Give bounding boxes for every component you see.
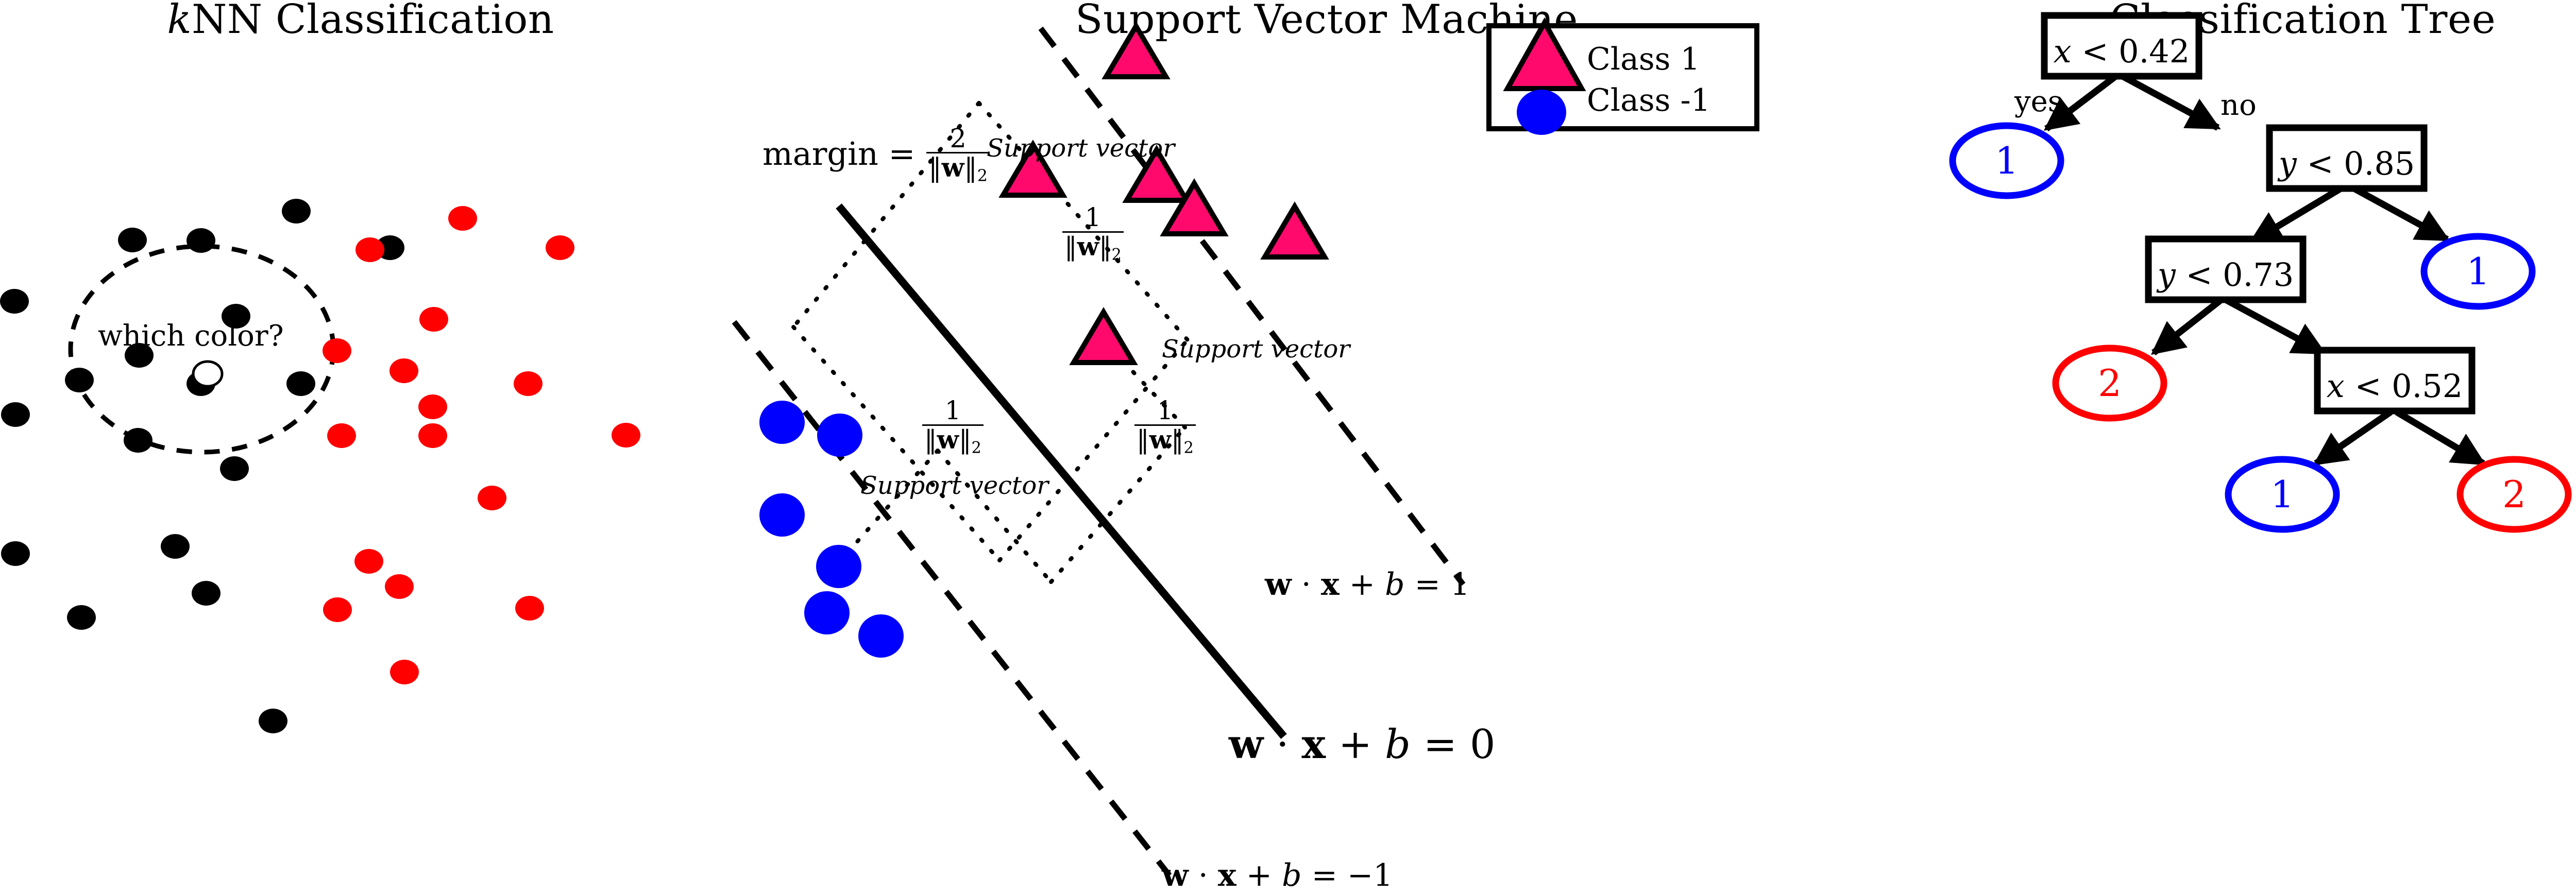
- svm-panel-title: Support Vector Machine: [721, 0, 1932, 43]
- svm-legend-label-class-1: Class 1: [1587, 41, 1700, 77]
- knn-black-dot-7: [65, 368, 94, 392]
- svm-support-vector-triangle-5: [1074, 312, 1133, 363]
- knn-black-dot-14: [161, 534, 190, 559]
- svm-margin-fraction: 2 ‖w‖2: [926, 125, 990, 185]
- tree-node-threshold-n2: 0.85: [2344, 145, 2415, 182]
- tree-edge-n2-n4: [2350, 186, 2447, 239]
- panel-svm: Support Vector Machine: [721, 0, 1932, 894]
- svm-margin-w: w: [942, 152, 964, 183]
- knn-black-dot-3: [187, 228, 215, 253]
- knn-black-dot-9: [286, 371, 315, 396]
- panel-tree: Classification Tree: [1932, 0, 2576, 894]
- knn-scatter-svg: [0, 0, 721, 894]
- knn-red-dot-15: [515, 596, 544, 621]
- tree-diagram-svg: [1932, 0, 2576, 894]
- knn-query-point[interactable]: [193, 362, 222, 386]
- svm-inv2-sub: 2: [972, 439, 981, 457]
- knn-black-dot-1: [118, 228, 147, 252]
- svm-margin-sub: 2: [977, 167, 988, 185]
- svm-class-minus1-circle-0: [759, 401, 805, 444]
- tree-node-label-n2: y < 0.85: [2269, 145, 2424, 182]
- knn-title-text: NN Classification: [192, 0, 554, 43]
- knn-red-dot-11: [478, 486, 506, 510]
- knn-black-dot-13: [1, 541, 30, 566]
- tree-leaf-label-n5: 2: [2056, 362, 2164, 405]
- svm-inv3-fraction: 1 ‖w‖2: [1134, 398, 1196, 457]
- knn-black-dot-16: [67, 605, 96, 630]
- knn-red-dot-5: [389, 358, 418, 383]
- svm-equation-minus-one: w · x + b = −1: [1162, 857, 1393, 893]
- svm-support-vector-label-left: Support vector: [860, 471, 1048, 500]
- knn-red-dot-13: [385, 574, 414, 599]
- svm-class-minus1-circle-2: [759, 493, 805, 537]
- svm-inv1-numerator: 1: [1062, 204, 1124, 231]
- knn-red-dot-14: [323, 597, 352, 622]
- svm-legend-circle-icon: [1517, 90, 1566, 135]
- knn-red-dot-10: [612, 423, 640, 448]
- panel-knn: kNN Classification which color?: [0, 0, 721, 894]
- knn-red-dot-2: [546, 235, 574, 260]
- knn-black-dot-15: [192, 581, 221, 606]
- svm-inv1-sub: 2: [1112, 246, 1122, 264]
- svm-inv2-fraction: 1 ‖w‖2: [922, 398, 984, 457]
- tree-edge-n6-n8: [2397, 412, 2483, 463]
- knn-black-dot-5: [0, 289, 29, 314]
- svm-inverse-norm-label-1: 1 ‖w‖2: [1061, 206, 1125, 265]
- knn-red-dot-7: [418, 394, 447, 419]
- svm-class-minus1-circle-5: [858, 614, 904, 658]
- tree-leaf-label-n8: 2: [2460, 473, 2568, 516]
- tree-edge-n3-n6: [2227, 300, 2324, 353]
- knn-red-dot-0: [448, 206, 477, 231]
- knn-red-dot-group: [323, 206, 640, 684]
- tree-edge-n6-n7: [2316, 412, 2391, 463]
- tree-node-label-n3: y < 0.73: [2148, 256, 2303, 294]
- svm-class-minus1-circle-4: [804, 591, 850, 634]
- knn-black-dot-0: [282, 199, 311, 223]
- svm-inv2-denominator: ‖w‖2: [922, 424, 984, 457]
- svm-hyperplane-plus1: [1041, 28, 1463, 584]
- svm-margin-denominator: ‖w‖2: [926, 152, 990, 185]
- svm-inv3-denominator: ‖w‖2: [1134, 424, 1196, 457]
- tree-edge-n0-n2: [2122, 76, 2218, 128]
- svm-support-vector-circle-1: [817, 414, 862, 457]
- svm-equation-zero: w · x + b = 0: [1229, 721, 1496, 768]
- svm-support-vector-label-top: Support vector: [987, 134, 1175, 163]
- knn-red-dot-12: [354, 549, 383, 574]
- svm-inverse-norm-label-3: 1 ‖w‖2: [1133, 399, 1197, 458]
- svm-margin-numerator: 2: [926, 125, 990, 152]
- svm-margin-dotted-sv-blue: [840, 451, 938, 561]
- svm-inv3-w: w: [1149, 425, 1171, 455]
- tree-branch-label-yes: yes: [2014, 85, 2063, 118]
- tree-node-threshold-n0: 0.42: [2119, 32, 2190, 70]
- svm-inv3-numerator: 1: [1134, 398, 1196, 424]
- tree-edge-n3-n5: [2154, 300, 2221, 353]
- tree-leaf-label-n1: 1: [1953, 139, 2061, 182]
- svm-inv3-sub: 2: [1184, 439, 1194, 457]
- tree-leaf-label-n4: 1: [2424, 250, 2532, 293]
- knn-red-dot-8: [418, 423, 447, 448]
- knn-black-dot-group: [0, 199, 404, 733]
- svm-equation-plus-one: w · x + b = 1: [1265, 566, 1470, 603]
- knn-red-dot-9: [327, 423, 356, 448]
- svm-margin-label: margin = 2 ‖w‖2: [762, 126, 991, 187]
- tree-node-label-n0: x < 0.42: [2044, 32, 2199, 70]
- svm-inverse-norm-label-2: 1 ‖w‖2: [921, 399, 985, 458]
- svm-inv2-w: w: [937, 425, 959, 455]
- svm-inv2-numerator: 1: [922, 398, 984, 424]
- svm-legend-label-class-minus-1: Class -1: [1587, 82, 1710, 118]
- knn-black-dot-2: [376, 235, 404, 260]
- svm-circle-group: [759, 401, 904, 658]
- knn-black-dot-8: [187, 371, 215, 396]
- knn-title-k: k: [167, 0, 192, 43]
- knn-black-dot-11: [124, 428, 152, 453]
- knn-panel-title: kNN Classification: [0, 0, 721, 43]
- tree-panel-title: Classification Tree: [1932, 0, 2576, 43]
- knn-red-dot-3: [419, 307, 448, 332]
- tree-node-threshold-n3: 0.73: [2223, 256, 2294, 294]
- knn-black-dot-12: [220, 456, 249, 481]
- knn-red-dot-6: [514, 371, 543, 396]
- knn-which-color-label: which color?: [98, 319, 284, 353]
- knn-black-dot-10: [1, 402, 30, 427]
- tree-node-threshold-n6: 0.52: [2392, 367, 2463, 405]
- svm-class-minus1-circle-3: [816, 545, 861, 588]
- tree-node-label-n6: x < 0.52: [2317, 367, 2472, 405]
- svm-margin-dotted-sv-mid: [938, 451, 1051, 582]
- tree-edge-n2-n3: [2251, 186, 2344, 242]
- tree-branch-label-no: no: [2221, 89, 2257, 122]
- svm-class1-triangle-4: [1265, 207, 1325, 257]
- svm-inv1-fraction: 1 ‖w‖2: [1062, 204, 1124, 264]
- tree-leaf-label-n7: 1: [2228, 473, 2336, 516]
- svm-support-vector-label-right: Support vector: [1162, 335, 1350, 364]
- svm-inv1-w: w: [1077, 232, 1099, 262]
- knn-red-dot-1: [355, 237, 384, 262]
- svm-inv1-denominator: ‖w‖2: [1062, 231, 1124, 264]
- svm-margin-prefix: margin =: [762, 135, 925, 173]
- knn-black-dot-17: [259, 709, 287, 733]
- knn-red-dot-4: [323, 338, 351, 363]
- svm-class1-triangle-3: [1164, 183, 1224, 234]
- svm-triangle-group: [1003, 26, 1325, 363]
- knn-red-dot-16: [390, 660, 419, 684]
- figure-canvas: kNN Classification which color? Support …: [0, 0, 2576, 894]
